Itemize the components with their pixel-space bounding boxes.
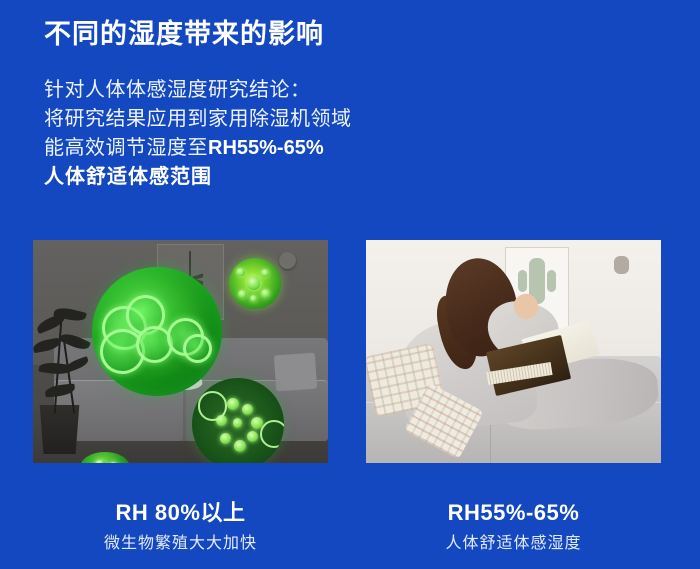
microbe-spore bbox=[250, 295, 257, 302]
description-line-3: 能高效调节湿度至RH55%-65% bbox=[44, 134, 352, 163]
caption-left-subtitle: 微生物繁殖大大加快 bbox=[33, 531, 328, 557]
microbe-cluster-top bbox=[229, 258, 281, 309]
microbe-spore bbox=[247, 431, 258, 442]
microbe-spore bbox=[261, 289, 270, 298]
caption-right: RH55%-65% 人体舒适体感湿度 bbox=[366, 498, 661, 557]
caption-right-title: RH55%-65% bbox=[366, 498, 661, 528]
description-line-1: 针对人体体感湿度研究结论： bbox=[44, 76, 352, 105]
microbe-spore bbox=[234, 440, 246, 452]
microbe-cell bbox=[183, 334, 212, 363]
page-title: 不同的湿度带来的影响 bbox=[44, 18, 324, 50]
microbe-spore bbox=[233, 418, 242, 427]
microbe-spore bbox=[247, 276, 260, 289]
microbe-ring bbox=[260, 420, 284, 448]
dark-room-scene bbox=[33, 240, 328, 463]
microbe-spore bbox=[220, 433, 231, 444]
caption-right-subtitle: 人体舒适体感湿度 bbox=[366, 531, 661, 557]
microbe-spore bbox=[238, 290, 246, 298]
caption-left-title: RH 80%以上 bbox=[33, 498, 328, 528]
dark-pillow bbox=[274, 352, 318, 390]
description-line-3-normal: 能高效调节湿度至 bbox=[44, 137, 208, 159]
microbe-spore bbox=[242, 404, 253, 415]
poster-root: 不同的湿度带来的影响 针对人体体感湿度研究结论： 将研究结果应用到家用除湿机领域… bbox=[0, 0, 700, 569]
microbe-ring bbox=[198, 391, 228, 421]
description-block: 针对人体体感湿度研究结论： 将研究结果应用到家用除湿机领域 能高效调节湿度至RH… bbox=[44, 76, 352, 192]
humidity-range-inline: RH55%-65% bbox=[208, 137, 324, 159]
microbe-cluster-bottom bbox=[192, 378, 283, 463]
microbe-spore bbox=[227, 398, 239, 410]
description-line-4: 人体舒适体感范围 bbox=[44, 163, 352, 192]
microbe-spore bbox=[95, 460, 105, 463]
photo-comfort-humidity bbox=[366, 240, 661, 463]
microbe-spore bbox=[109, 462, 118, 463]
microbe-spore bbox=[261, 269, 269, 277]
caption-left: RH 80%以上 微生物繁殖大大加快 bbox=[33, 498, 328, 557]
description-line-2: 将研究结果应用到家用除湿机领域 bbox=[44, 105, 352, 134]
wall-sensor-icon bbox=[614, 256, 629, 274]
photo-high-humidity bbox=[33, 240, 328, 463]
plant-pot bbox=[36, 405, 83, 454]
microbe-cluster-large bbox=[92, 267, 222, 396]
microbe-spore bbox=[236, 268, 244, 276]
bright-room-scene bbox=[366, 240, 661, 463]
